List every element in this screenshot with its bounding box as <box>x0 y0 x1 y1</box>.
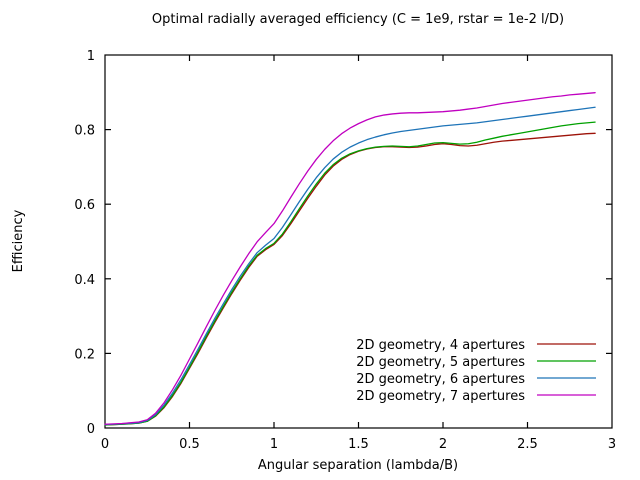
x-tick-label: 3 <box>608 437 616 452</box>
x-tick-label: 0 <box>101 437 109 452</box>
x-tick-label: 2 <box>439 437 447 452</box>
legend-label-4: 2D geometry, 7 apertures <box>356 389 525 404</box>
legend-label-1: 2D geometry, 4 apertures <box>356 338 525 353</box>
y-tick-label: 0.4 <box>74 273 95 288</box>
x-tick-label: 0.5 <box>179 437 200 452</box>
x-tick-label: 1.5 <box>348 437 369 452</box>
y-tick-label: 0.8 <box>74 124 95 139</box>
x-tick-label: 1 <box>270 437 278 452</box>
efficiency-line-chart: Optimal radially averaged efficiency (C … <box>0 0 640 480</box>
x-tick-label: 2.5 <box>517 437 538 452</box>
chart-container: Optimal radially averaged efficiency (C … <box>0 0 640 480</box>
y-tick-label: 0 <box>87 422 95 437</box>
chart-title: Optimal radially averaged efficiency (C … <box>152 12 564 27</box>
chart-background <box>0 0 640 480</box>
legend-label-3: 2D geometry, 6 apertures <box>356 372 525 387</box>
y-tick-label: 1 <box>87 49 95 64</box>
y-tick-label: 0.2 <box>74 347 95 362</box>
y-tick-label: 0.6 <box>74 198 95 213</box>
y-axis-label: Efficiency <box>11 209 26 272</box>
legend-label-2: 2D geometry, 5 apertures <box>356 355 525 370</box>
x-axis-label: Angular separation (lambda/B) <box>258 458 458 473</box>
